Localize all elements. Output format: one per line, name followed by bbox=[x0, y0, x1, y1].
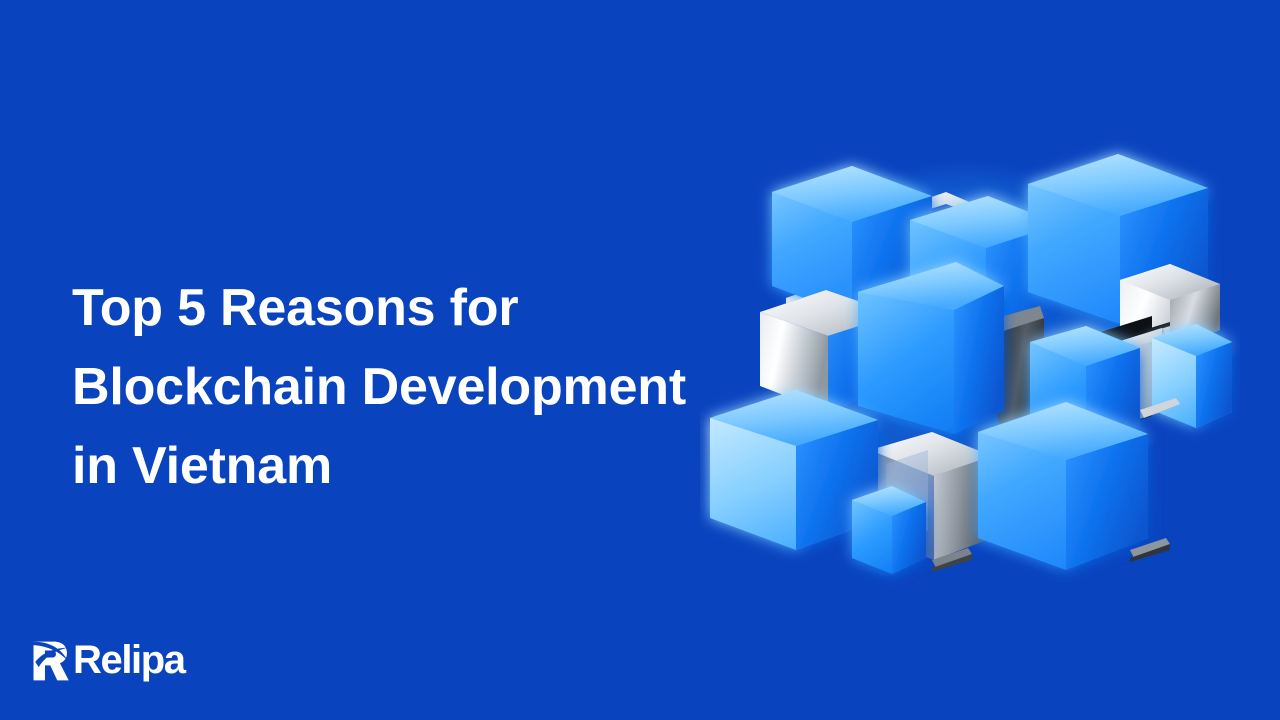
relipa-r-mark-icon bbox=[30, 639, 74, 683]
cubes-svg bbox=[700, 120, 1240, 600]
blue-cube-center bbox=[858, 262, 1004, 434]
banner: Top 5 Reasons for Blockchain Development… bbox=[0, 0, 1280, 720]
3d-blockchain-cubes-illustration bbox=[700, 120, 1240, 600]
blue-cube-bottom-right bbox=[978, 402, 1148, 570]
relipa-wordmark: Relipa bbox=[73, 638, 185, 682]
blue-cube-far-right bbox=[1152, 324, 1232, 428]
relipa-logo[interactable]: Relipa bbox=[30, 636, 185, 686]
blue-cube-bottom-center bbox=[852, 486, 926, 574]
page-title: Top 5 Reasons for Blockchain Development… bbox=[72, 269, 752, 506]
